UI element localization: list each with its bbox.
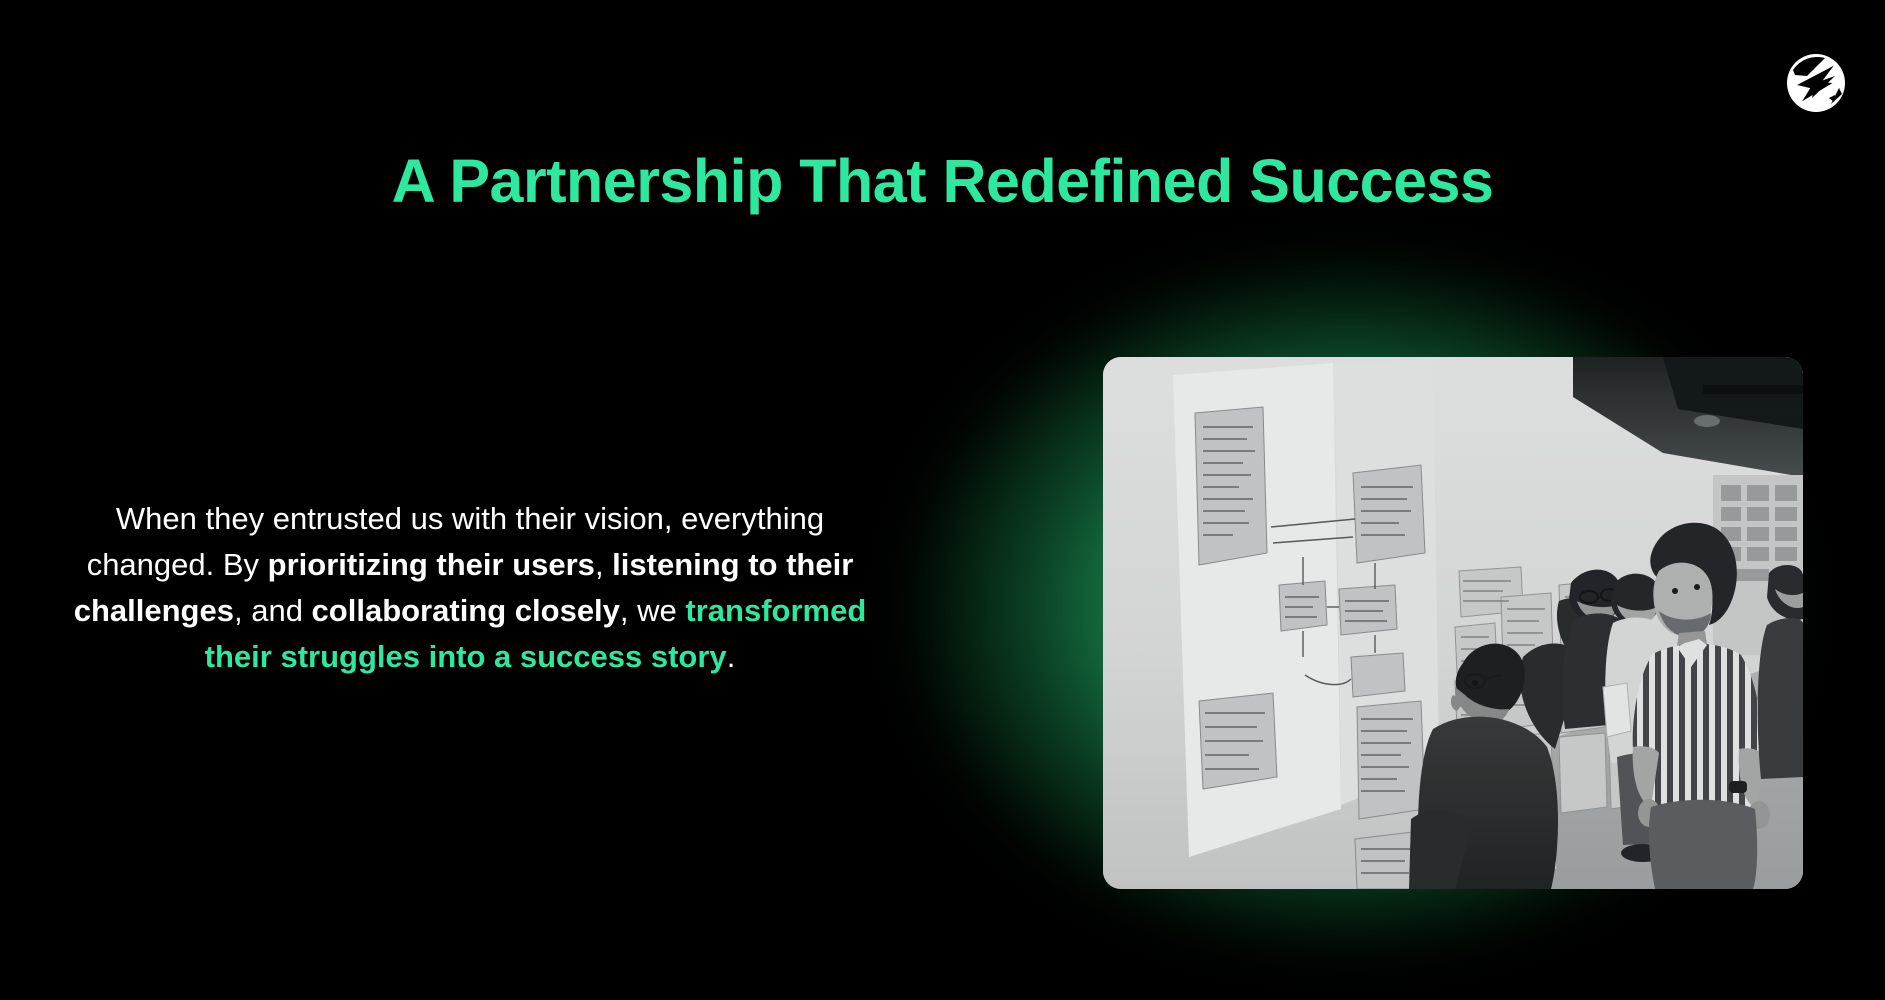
copy-emphasis-collaborating: collaborating closely — [312, 593, 620, 628]
brand-logo[interactable] — [1785, 52, 1847, 114]
copy-part-2: , — [595, 547, 612, 582]
slide-root: A Partnership That Redefined Success Whe… — [0, 0, 1885, 1000]
body-paragraph: When they entrusted us with their vision… — [60, 496, 880, 680]
brand-logo-icon — [1785, 52, 1847, 114]
copy-part-3: , and — [234, 593, 312, 628]
copy-part-4: , we — [620, 593, 685, 628]
copy-part-5: . — [727, 639, 736, 674]
copy-emphasis-users: prioritizing their users — [268, 547, 595, 582]
page-title: A Partnership That Redefined Success — [0, 148, 1885, 215]
workshop-photo-illustration — [1103, 357, 1803, 889]
workshop-photo — [1103, 357, 1803, 889]
